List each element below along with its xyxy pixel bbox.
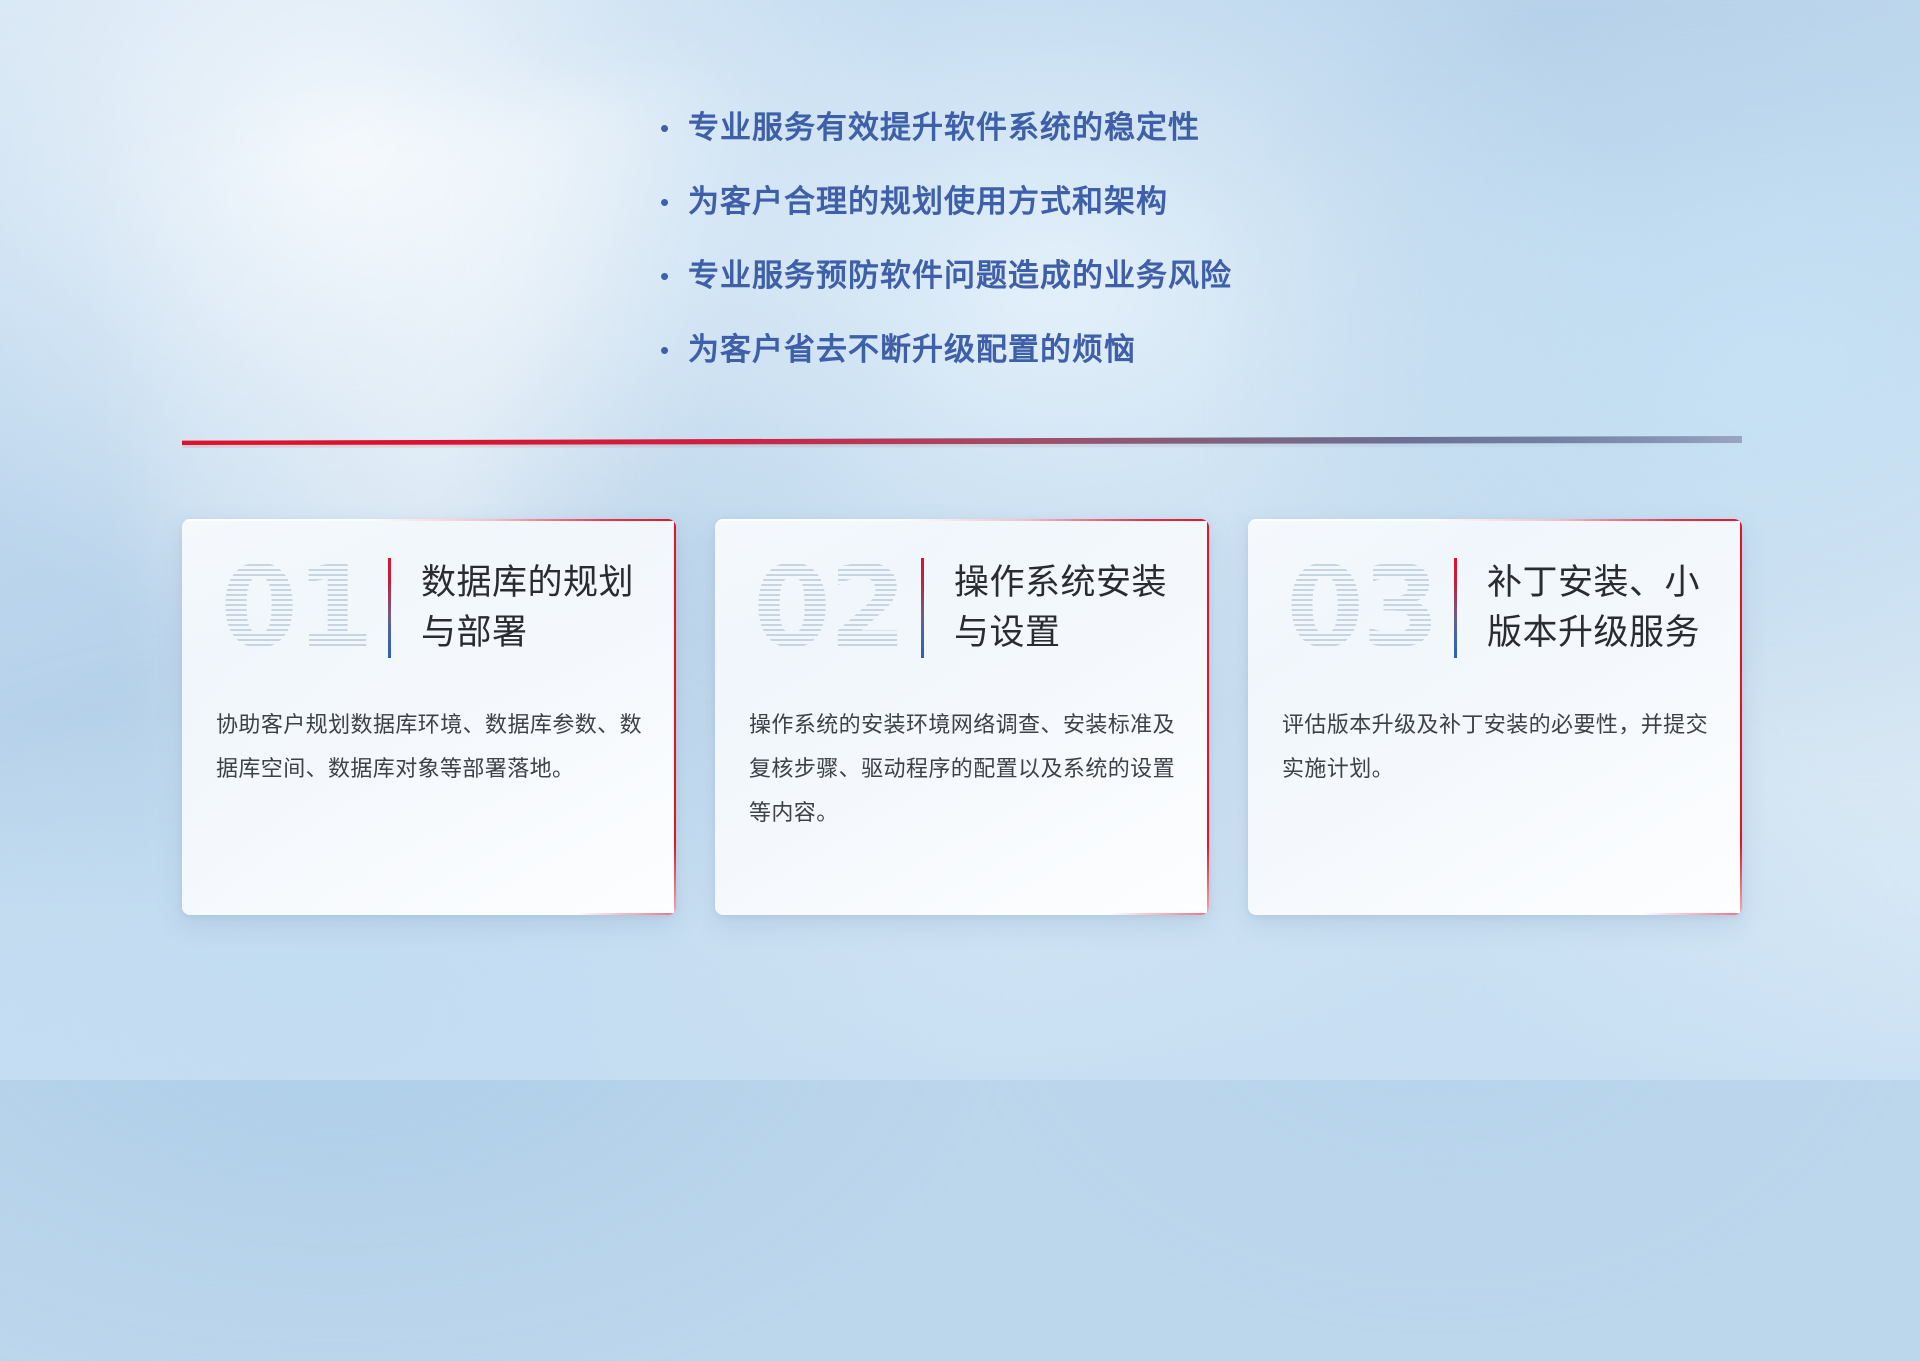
service-card-01[interactable]: 01 数据库的规划 与部署 协助客户规划数据库环境、数据库参数、数据库空间、数据…	[182, 519, 676, 915]
card-body-text: 操作系统的安装环境网络调查、安装标准及复核步骤、驱动程序的配置以及系统的设置等内…	[715, 697, 1209, 835]
card-header: 01 数据库的规划 与部署	[182, 519, 676, 697]
bullet-text: 为客户合理的规划使用方式和架构	[688, 182, 1168, 222]
bullet-dot-icon: •	[660, 182, 688, 222]
card-header: 02 操作系统安装 与设置	[715, 519, 1209, 697]
card-accent-bottom	[577, 913, 676, 915]
service-card-02[interactable]: 02 操作系统安装 与设置 操作系统的安装环境网络调查、安装标准及复核步骤、驱动…	[715, 519, 1209, 915]
card-title: 数据库的规划 与部署	[421, 558, 634, 658]
card-accent-bottom	[1110, 913, 1209, 915]
card-accent-bottom	[1643, 913, 1742, 915]
list-item: • 专业服务有效提升软件系统的稳定性	[660, 108, 1232, 148]
card-title: 补丁安装、小 版本升级服务	[1487, 558, 1700, 658]
card-number-watermark: 03	[1274, 544, 1450, 672]
bullet-dot-icon: •	[660, 256, 688, 296]
benefits-bullet-list: • 专业服务有效提升软件系统的稳定性 • 为客户合理的规划使用方式和架构 • 专…	[660, 108, 1232, 404]
service-card-03[interactable]: 03 补丁安装、小 版本升级服务 评估版本升级及补丁安装的必要性，并提交实施计划…	[1248, 519, 1742, 915]
card-title: 操作系统安装 与设置	[954, 558, 1167, 658]
card-title-rule	[921, 558, 924, 658]
list-item: • 专业服务预防软件问题造成的业务风险	[660, 256, 1232, 296]
bullet-dot-icon: •	[660, 108, 688, 148]
section-divider	[182, 430, 1742, 452]
card-body-text: 评估版本升级及补丁安装的必要性，并提交实施计划。	[1248, 697, 1742, 791]
card-header: 03 补丁安装、小 版本升级服务	[1248, 519, 1742, 697]
card-number-watermark: 02	[741, 544, 917, 672]
bullet-text: 专业服务预防软件问题造成的业务风险	[688, 256, 1232, 296]
bullet-dot-icon: •	[660, 330, 688, 370]
card-body-text: 协助客户规划数据库环境、数据库参数、数据库空间、数据库对象等部署落地。	[182, 697, 676, 791]
list-item: • 为客户合理的规划使用方式和架构	[660, 182, 1232, 222]
bullet-text: 为客户省去不断升级配置的烦恼	[688, 330, 1136, 370]
card-title-rule	[1454, 558, 1457, 658]
list-item: • 为客户省去不断升级配置的烦恼	[660, 330, 1232, 370]
bullet-text: 专业服务有效提升软件系统的稳定性	[688, 108, 1200, 148]
service-cards: 01 数据库的规划 与部署 协助客户规划数据库环境、数据库参数、数据库空间、数据…	[182, 519, 1742, 923]
card-number-watermark: 01	[208, 544, 384, 672]
card-title-rule	[388, 558, 391, 658]
